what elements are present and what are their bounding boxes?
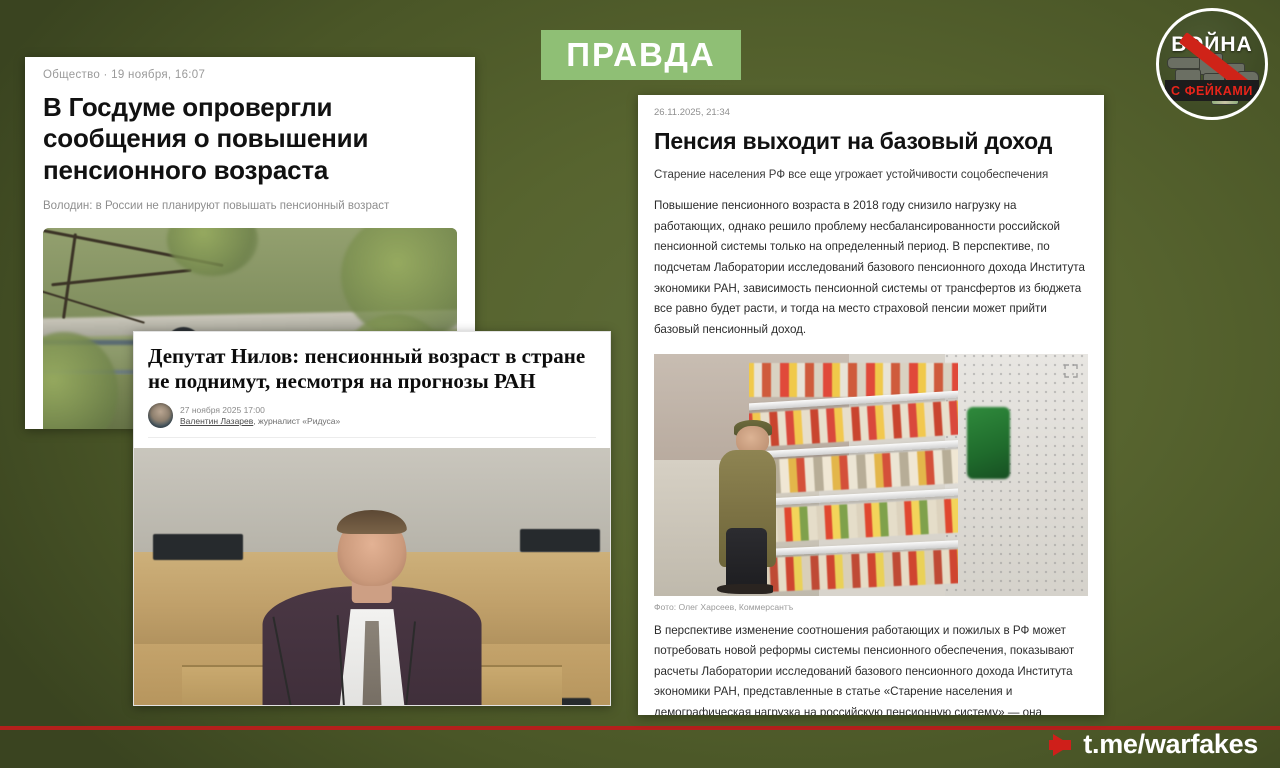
card-mid-byline: 27 ноября 2025 17:00 Валентин Лазарев, ж… — [148, 403, 596, 438]
verdict-banner: ПРАВДА — [541, 30, 741, 80]
card-left-headline: В Госдуме опровергли сообщения о повышен… — [43, 92, 457, 186]
article-card-right[interactable]: 26.11.2025, 21:34 Пенсия выходит на базо… — [638, 95, 1104, 715]
footer-handle-block[interactable]: t.me/warfakes — [1053, 729, 1258, 760]
card-left-text-block: Общество · 19 ноября, 16:07 В Госдуме оп… — [25, 57, 475, 214]
verdict-label: ПРАВДА — [566, 36, 715, 74]
duma-photo-illustration — [134, 448, 610, 706]
card-right-photo — [654, 354, 1088, 596]
arrow-right-icon — [1053, 734, 1071, 756]
logo-bottom-text: С ФЕЙКАМИ — [1171, 84, 1253, 98]
warfakes-logo: ВОЙНА С ФЕЙКАМИ — [1152, 4, 1272, 124]
poster-canvas: Общество · 19 ноября, 16:07 В Госдуме оп… — [0, 0, 1280, 768]
card-right-body-paragraph-2: В перспективе изменение соотношения рабо… — [654, 621, 1088, 715]
article-card-middle[interactable]: Депутат Нилов: пенсионный возраст в стра… — [133, 331, 611, 706]
supermarket-photo-illustration — [654, 354, 1088, 596]
card-right-content: 26.11.2025, 21:34 Пенсия выходит на базо… — [638, 95, 1104, 715]
card-mid-byline-role: , журналист «Ридуса» — [253, 416, 340, 426]
logo-ring: ВОЙНА С ФЕЙКАМИ — [1156, 8, 1268, 120]
card-right-kicker: 26.11.2025, 21:34 — [654, 107, 1088, 118]
card-right-headline: Пенсия выходит на базовый доход — [654, 128, 1088, 155]
card-mid-photo — [134, 448, 610, 706]
card-right-photo-credit: Фото: Олег Харсеев, Коммерсантъ — [654, 596, 1088, 621]
card-mid-headline: Депутат Нилов: пенсионный возраст в стра… — [148, 344, 596, 394]
card-mid-text-block: Депутат Нилов: пенсионный возраст в стра… — [134, 332, 610, 438]
card-mid-byline-author[interactable]: Валентин Лазарев — [180, 416, 253, 426]
card-right-body-paragraph-1: Повышение пенсионного возраста в 2018 го… — [654, 196, 1088, 340]
card-left-subhead: Володин: в России не планируют повышать … — [43, 198, 457, 214]
logo-bottom-banner: С ФЕЙКАМИ — [1165, 80, 1259, 101]
expand-icon[interactable] — [1064, 364, 1078, 378]
card-mid-byline-date: 27 ноября 2025 17:00 — [180, 405, 340, 416]
avatar — [148, 403, 173, 428]
card-right-standfirst: Старение населения РФ все еще угрожает у… — [654, 167, 1088, 183]
telegram-handle[interactable]: t.me/warfakes — [1083, 729, 1258, 760]
card-left-kicker: Общество · 19 ноября, 16:07 — [43, 69, 457, 81]
